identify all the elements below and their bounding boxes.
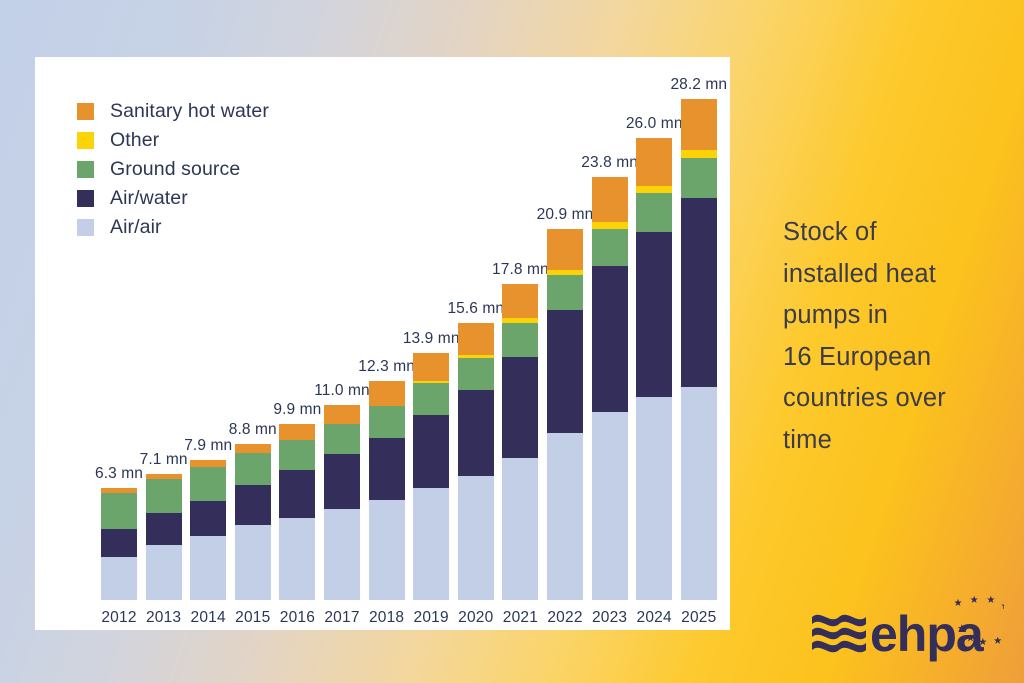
bar-segment-sanitary_hot_water[interactable] [636, 138, 672, 186]
bar-value-label: 7.9 mn [184, 437, 232, 455]
bar-segment-ground_source[interactable] [458, 358, 494, 390]
legend-swatch-icon [77, 190, 94, 207]
bar-segment-ground_source[interactable] [547, 275, 583, 311]
stacked-bar[interactable] [592, 177, 628, 600]
bar-segment-sanitary_hot_water[interactable] [413, 353, 449, 381]
svg-text:ehpa: ehpa [870, 606, 985, 662]
bar-group[interactable]: 26.0 mn2024 [636, 138, 672, 600]
slide-title-line: 16 European [783, 337, 1008, 379]
x-axis-tick-label: 2022 [547, 609, 582, 627]
legend-item-label: Air/water [110, 187, 188, 210]
slide-title-line: time [783, 420, 1008, 462]
stacked-bar[interactable] [547, 229, 583, 600]
bar-segment-ground_source[interactable] [101, 493, 137, 529]
bar-segment-air_water[interactable] [324, 454, 360, 509]
bar-segment-air_air[interactable] [279, 518, 315, 600]
legend-item[interactable]: Air/air [77, 213, 269, 242]
bar-value-label: 20.9 mn [537, 206, 594, 224]
bar-group[interactable]: 11.0 mn2017 [324, 405, 360, 600]
legend-item-label: Air/air [110, 216, 162, 239]
bar-segment-sanitary_hot_water[interactable] [592, 177, 628, 222]
x-axis-tick-label: 2014 [191, 609, 226, 627]
x-axis-tick-label: 2023 [592, 609, 627, 627]
legend-item[interactable]: Ground source [77, 155, 269, 184]
bar-segment-air_water[interactable] [190, 501, 226, 537]
bar-segment-ground_source[interactable] [681, 158, 717, 199]
bar-group[interactable]: 9.9 mn2016 [279, 424, 315, 600]
chart-panel: 6.3 mn20127.1 mn20137.9 mn20148.8 mn2015… [35, 57, 730, 630]
slide-title-line: Stock of [783, 212, 1008, 254]
bar-group[interactable]: 7.1 mn2013 [146, 474, 182, 600]
legend-item[interactable]: Sanitary hot water [77, 97, 269, 126]
x-axis-tick-label: 2018 [369, 609, 404, 627]
bar-segment-air_water[interactable] [592, 266, 628, 412]
x-axis-tick-label: 2016 [280, 609, 315, 627]
bar-segment-ground_source[interactable] [592, 229, 628, 266]
stacked-bar[interactable] [369, 381, 405, 600]
bar-segment-ground_source[interactable] [413, 383, 449, 415]
bar-segment-air_water[interactable] [636, 232, 672, 397]
bar-segment-ground_source[interactable] [235, 453, 271, 485]
stacked-bar[interactable] [636, 138, 672, 600]
slide-title-line: pumps in [783, 295, 1008, 337]
bar-group[interactable]: 12.3 mn2018 [369, 381, 405, 600]
x-axis-tick-label: 2019 [414, 609, 449, 627]
bar-segment-ground_source[interactable] [190, 467, 226, 501]
bar-value-label: 15.6 mn [447, 300, 504, 318]
x-axis-tick-label: 2012 [101, 609, 136, 627]
bar-segment-air_air[interactable] [547, 433, 583, 600]
bar-segment-other[interactable] [636, 186, 672, 193]
bar-segment-air_water[interactable] [413, 415, 449, 488]
chart-legend: Sanitary hot waterOtherGround sourceAir/… [77, 97, 269, 242]
x-axis-tick-label: 2015 [235, 609, 270, 627]
bar-value-label: 7.1 mn [140, 451, 188, 469]
x-axis-tick-label: 2025 [681, 609, 716, 627]
bar-segment-other[interactable] [681, 150, 717, 158]
stacked-bar[interactable] [502, 284, 538, 600]
slide-title-line: installed heat [783, 254, 1008, 296]
bar-segment-air_air[interactable] [636, 397, 672, 600]
legend-swatch-icon [77, 161, 94, 178]
bar-segment-sanitary_hot_water[interactable] [235, 444, 271, 453]
legend-item[interactable]: Other [77, 126, 269, 155]
stacked-bar[interactable] [324, 405, 360, 600]
bar-segment-sanitary_hot_water[interactable] [502, 284, 538, 319]
bar-value-label: 23.8 mn [581, 154, 638, 172]
bar-segment-sanitary_hot_water[interactable] [279, 424, 315, 440]
bar-segment-air_air[interactable] [369, 500, 405, 599]
bar-segment-ground_source[interactable] [324, 424, 360, 454]
legend-item-label: Ground source [110, 158, 240, 181]
bar-segment-ground_source[interactable] [146, 479, 182, 513]
x-axis-tick-label: 2021 [503, 609, 538, 627]
slide-canvas: 6.3 mn20127.1 mn20137.9 mn20148.8 mn2015… [0, 0, 1024, 683]
bar-value-label: 13.9 mn [403, 330, 460, 348]
bar-segment-air_water[interactable] [369, 438, 405, 500]
bar-segment-sanitary_hot_water[interactable] [369, 381, 405, 406]
bar-segment-sanitary_hot_water[interactable] [190, 460, 226, 467]
legend-item[interactable]: Air/water [77, 184, 269, 213]
bar-value-label: 8.8 mn [229, 421, 277, 439]
bar-segment-air_water[interactable] [502, 357, 538, 458]
x-axis-tick-label: 2013 [146, 609, 181, 627]
stacked-bar[interactable] [235, 444, 271, 600]
bar-group[interactable]: 7.9 mn2014 [190, 460, 226, 600]
stacked-bar[interactable] [279, 424, 315, 600]
bar-group[interactable]: 13.9 mn2019 [413, 353, 449, 600]
bar-segment-air_air[interactable] [190, 536, 226, 600]
stacked-bar[interactable] [413, 353, 449, 600]
bar-value-label: 28.2 mn [670, 76, 727, 94]
bar-group[interactable]: 17.8 mn2021 [502, 284, 538, 600]
bar-segment-air_water[interactable] [146, 513, 182, 545]
legend-swatch-icon [77, 219, 94, 236]
bar-segment-air_air[interactable] [101, 557, 137, 600]
bar-segment-sanitary_hot_water[interactable] [681, 99, 717, 150]
ehpa-logo-mark: ehpa [808, 592, 1004, 666]
legend-item-label: Other [110, 129, 159, 152]
bar-segment-air_water[interactable] [101, 529, 137, 557]
bar-segment-ground_source[interactable] [279, 440, 315, 470]
bar-value-label: 26.0 mn [626, 115, 683, 133]
bar-segment-air_air[interactable] [413, 488, 449, 600]
x-axis-tick-label: 2024 [637, 609, 672, 627]
bar-segment-sanitary_hot_water[interactable] [547, 229, 583, 270]
bar-segment-sanitary_hot_water[interactable] [458, 323, 494, 355]
bar-segment-ground_source[interactable] [502, 323, 538, 357]
bar-group[interactable]: 20.9 mn2022 [547, 229, 583, 600]
bar-segment-air_air[interactable] [235, 525, 271, 600]
stacked-bar[interactable] [101, 488, 137, 600]
bar-segment-air_water[interactable] [235, 485, 271, 526]
x-axis-tick-label: 2017 [324, 609, 359, 627]
bar-segment-air_air[interactable] [146, 545, 182, 600]
bar-segment-ground_source[interactable] [636, 193, 672, 232]
bar-segment-air_air[interactable] [592, 412, 628, 600]
bar-value-label: 17.8 mn [492, 261, 549, 279]
stacked-bar[interactable] [190, 460, 226, 600]
bar-segment-air_water[interactable] [279, 470, 315, 518]
bar-value-label: 11.0 mn [314, 382, 370, 400]
legend-swatch-icon [77, 103, 94, 120]
legend-item-label: Sanitary hot water [110, 100, 269, 123]
bar-group[interactable]: 15.6 mn2020 [458, 323, 494, 600]
legend-swatch-icon [77, 132, 94, 149]
bar-value-label: 9.9 mn [273, 401, 321, 419]
bar-segment-air_water[interactable] [458, 390, 494, 475]
bar-group[interactable]: 8.8 mn2015 [235, 444, 271, 600]
bar-segment-air_water[interactable] [681, 198, 717, 386]
ehpa-logo: ehpa [808, 592, 1004, 666]
bar-segment-air_air[interactable] [324, 509, 360, 600]
bar-segment-air_air[interactable] [681, 387, 717, 600]
bar-segment-air_air[interactable] [502, 458, 538, 600]
bar-group[interactable]: 28.2 mn2025 [681, 99, 717, 600]
bar-segment-air_air[interactable] [458, 476, 494, 600]
bar-value-label: 12.3 mn [358, 358, 415, 376]
bar-group[interactable]: 23.8 mn2023 [592, 177, 628, 600]
bar-value-label: 6.3 mn [95, 465, 143, 483]
slide-title-line: countries over [783, 378, 1008, 420]
bar-segment-sanitary_hot_water[interactable] [324, 405, 360, 425]
stacked-bar[interactable] [458, 323, 494, 600]
stacked-bar[interactable] [146, 474, 182, 600]
bar-segment-air_water[interactable] [547, 310, 583, 433]
bar-segment-ground_source[interactable] [369, 406, 405, 438]
slide-title: Stock ofinstalled heatpumps in16 Europea… [783, 212, 1008, 461]
bar-group[interactable]: 6.3 mn2012 [101, 488, 137, 600]
x-axis-tick-label: 2020 [458, 609, 493, 627]
stacked-bar[interactable] [681, 99, 717, 600]
